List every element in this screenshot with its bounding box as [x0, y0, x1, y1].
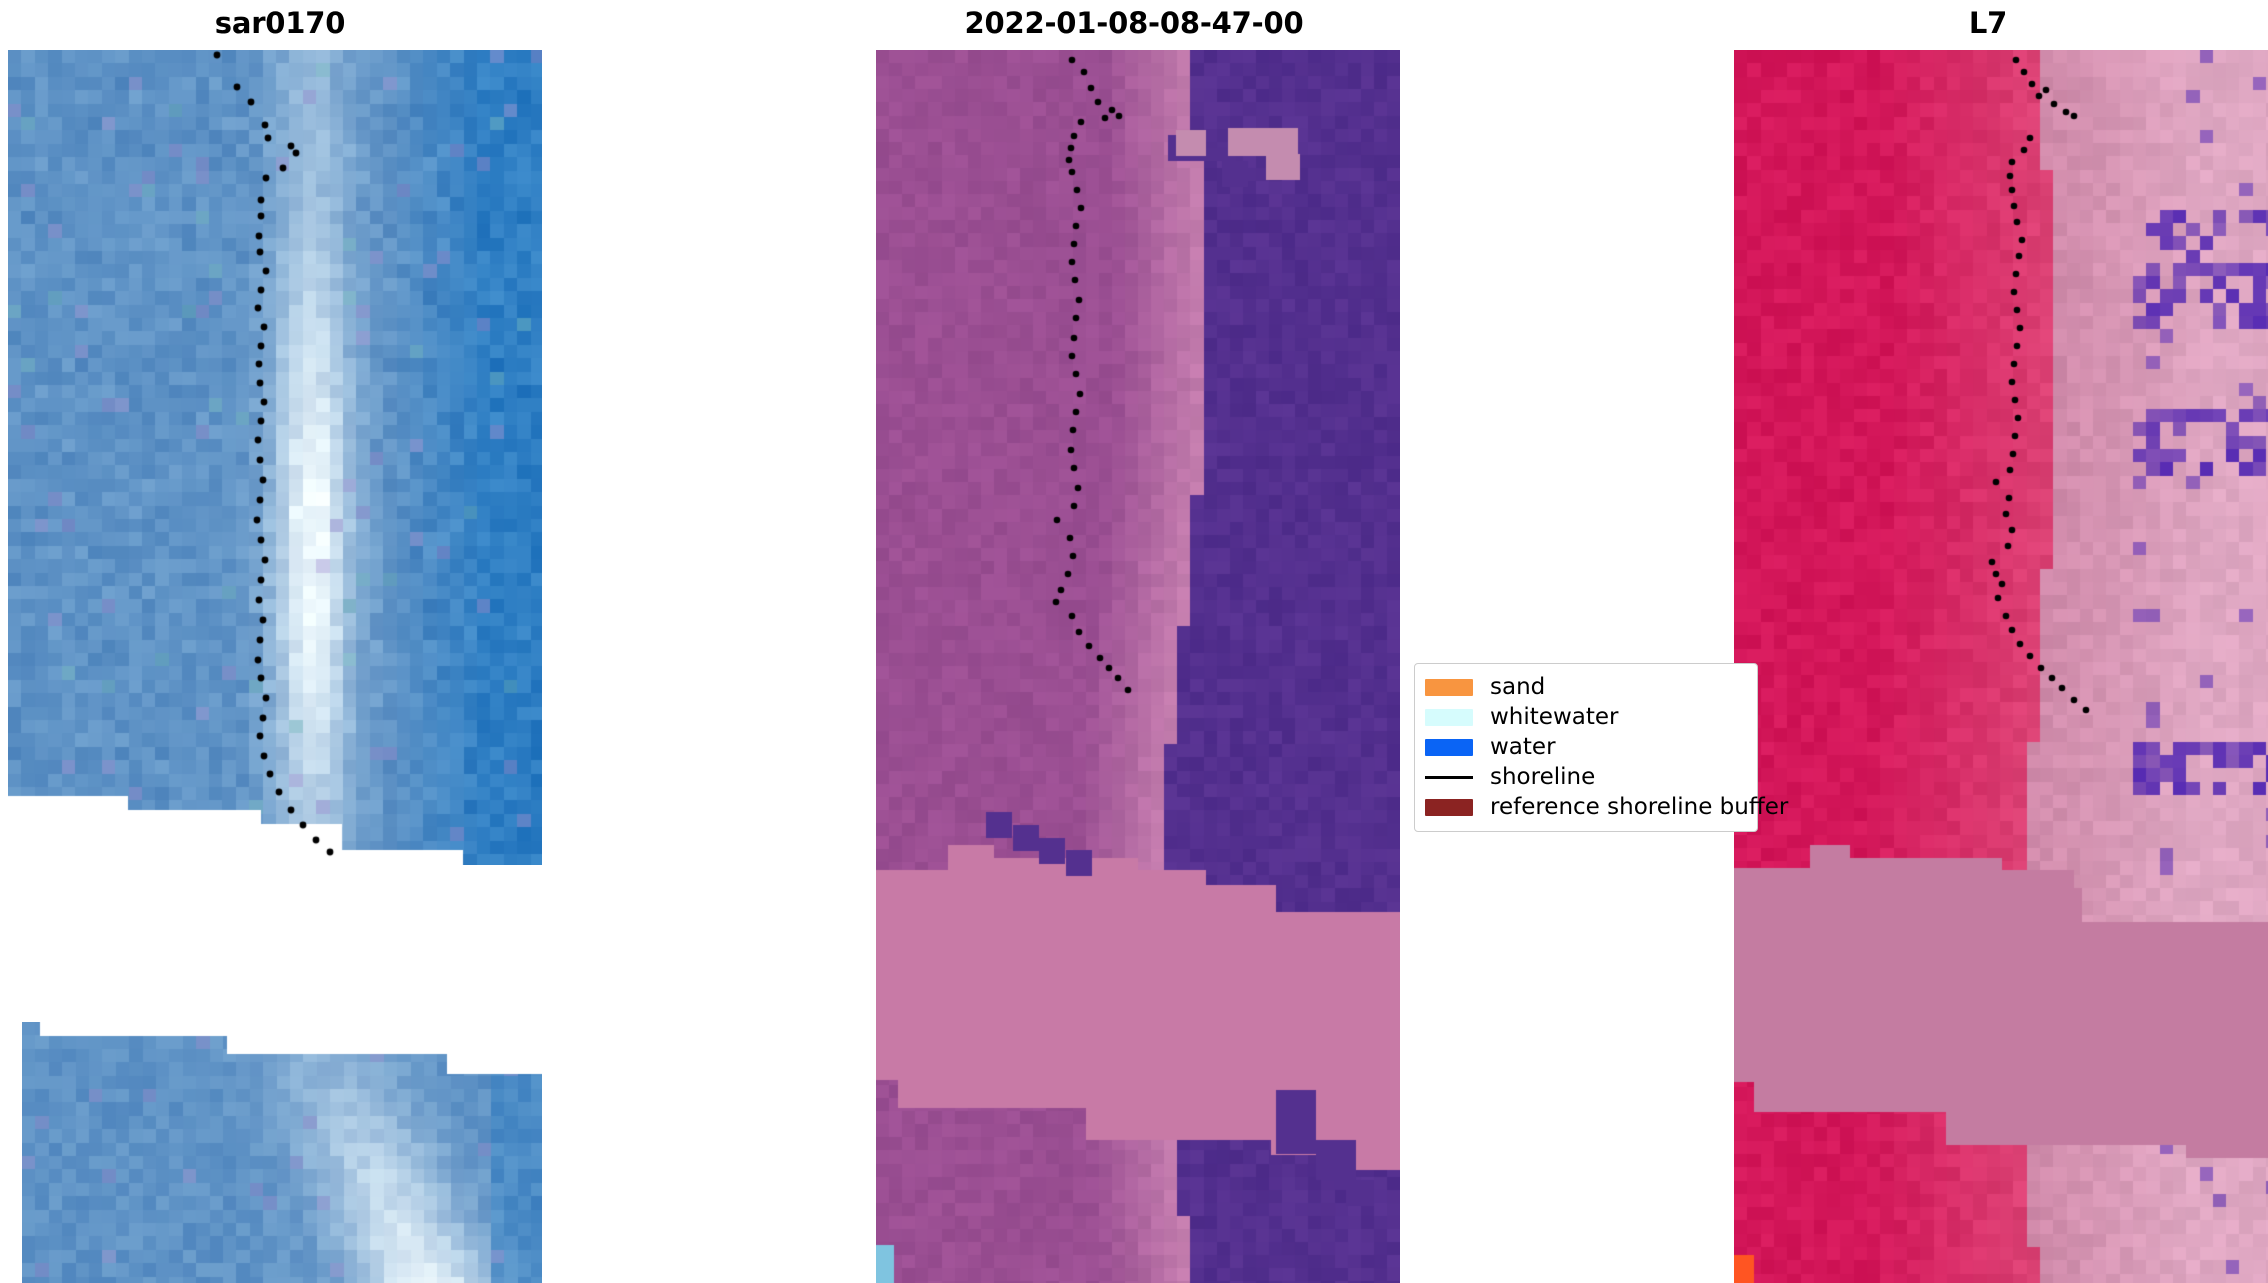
legend-box: sand whitewater water shoreline referenc… — [1414, 663, 1758, 832]
panel-l7: L7 — [1708, 0, 2268, 1283]
legend-item-sand: sand — [1425, 672, 1747, 702]
legend-label-whitewater: whitewater — [1490, 704, 1618, 730]
legend-swatch-water — [1425, 739, 1473, 756]
panel-title-left: sar0170 — [0, 6, 560, 40]
legend-item-whitewater: whitewater — [1425, 702, 1747, 732]
legend-swatch-shoreline — [1425, 776, 1473, 779]
legend-label-shoreline: shoreline — [1490, 764, 1595, 790]
axes-classification — [854, 50, 1414, 1283]
classification-raster — [876, 50, 1400, 1283]
legend-item-water: water — [1425, 732, 1747, 762]
legend-item-shoreline: shoreline — [1425, 762, 1747, 792]
panel-title-center: 2022-01-08-08-47-00 — [854, 6, 1414, 40]
l7-raster — [1734, 50, 2268, 1283]
sar-raster-upper — [8, 50, 542, 865]
legend-label-water: water — [1490, 734, 1556, 760]
figure-canvas: sar0170 2022-01-08-08-47-00 L7 — [0, 0, 2268, 1283]
axes-l7 — [1708, 50, 2268, 1283]
legend-swatch-reference-buffer — [1425, 799, 1473, 816]
legend-label-sand: sand — [1490, 674, 1545, 700]
legend-swatch-whitewater — [1425, 709, 1473, 726]
legend-item-reference-shoreline-buffer: reference shoreline buffer — [1425, 792, 1747, 822]
legend-swatch-sand — [1425, 679, 1473, 696]
axes-sar — [0, 50, 560, 1283]
sar-raster-lower — [22, 1022, 542, 1283]
panel-title-right: L7 — [1708, 6, 2268, 40]
panel-classification: 2022-01-08-08-47-00 — [854, 0, 1414, 1283]
panel-sar: sar0170 — [0, 0, 560, 1283]
legend-label-reference-buffer: reference shoreline buffer — [1490, 794, 1788, 820]
